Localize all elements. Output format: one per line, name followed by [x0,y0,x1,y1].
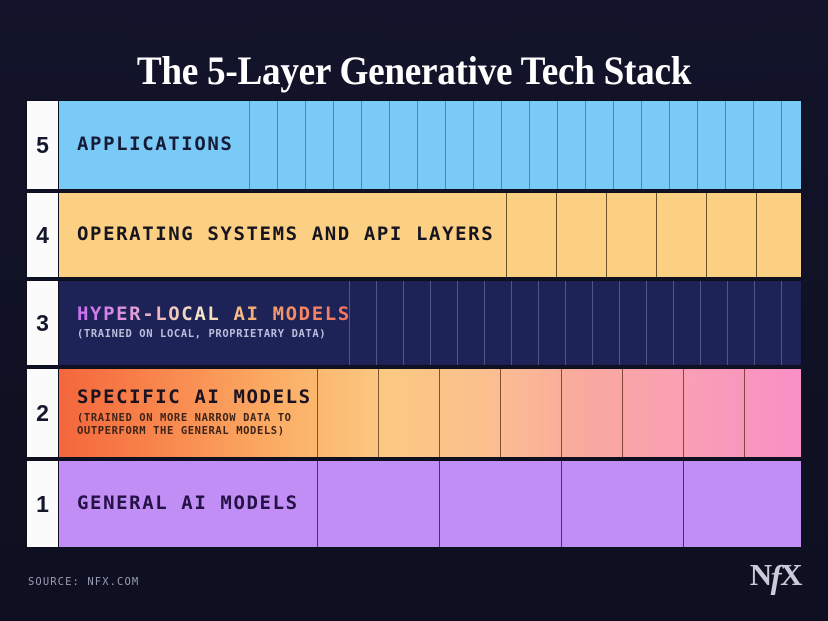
layer-number-2: 2 [26,368,59,458]
infographic-canvas: The 5-Layer Generative Tech Stack 5 APPL… [0,0,828,621]
page-title: The 5-Layer Generative Tech Stack [137,49,691,93]
layer-2-title: SPECIFIC AI MODELS [77,387,312,409]
layer-5-label-block: APPLICATIONS [59,134,233,156]
layer-bar-5: APPLICATIONS [59,100,802,190]
tech-stack-diagram: 5 APPLICATIONS 4 OPERATING SYSTEMS AND A… [26,100,802,548]
layer-3-label-block: HYPER-LOCAL AI MODELS (TRAINED ON LOCAL,… [59,304,351,343]
stack-layer-1: 1 GENERAL AI MODELS [26,460,802,548]
stack-layer-3: 3 HYPER-LOCAL AI MODELS (TRAINED ON LOCA… [26,280,802,366]
layer-bar-4: OPERATING SYSTEMS AND API LAYERS [59,192,802,278]
layer-number-1: 1 [26,460,59,548]
layer-2-label-block: SPECIFIC AI MODELS (TRAINED ON MORE NARR… [59,387,312,440]
stack-layer-2: 2 SPECIFIC AI MODELS (TRAINED ON MORE NA… [26,368,802,458]
layer-5-title: APPLICATIONS [77,134,233,156]
layer-2-subtitle: (TRAINED ON MORE NARROW DATA TO OUTPERFO… [77,412,312,440]
logo-letter-f: f [771,560,782,596]
source-credit: SOURCE: NFX.COM [28,576,139,588]
layer-3-subtitle: (TRAINED ON LOCAL, PROPRIETARY DATA) [77,328,351,342]
layer-number-4: 4 [26,192,59,278]
nfx-logo: NfX [750,559,802,592]
layer-4-label-block: OPERATING SYSTEMS AND API LAYERS [59,224,494,246]
layer-1-title: GENERAL AI MODELS [77,493,299,515]
layer-number-3: 3 [26,280,59,366]
logo-letter-x: X [780,557,802,592]
stack-layer-5: 5 APPLICATIONS [26,100,802,190]
layer-3-title: HYPER-LOCAL AI MODELS [77,304,351,326]
layer-4-title: OPERATING SYSTEMS AND API LAYERS [77,224,494,246]
layer-number-5: 5 [26,100,59,190]
stack-layer-4: 4 OPERATING SYSTEMS AND API LAYERS [26,192,802,278]
layer-bar-1: GENERAL AI MODELS [59,460,802,548]
layer-1-label-block: GENERAL AI MODELS [59,493,299,515]
layer-bar-2: SPECIFIC AI MODELS (TRAINED ON MORE NARR… [59,368,802,458]
layer-bar-3: HYPER-LOCAL AI MODELS (TRAINED ON LOCAL,… [59,280,802,366]
logo-letter-n: N [750,557,772,592]
